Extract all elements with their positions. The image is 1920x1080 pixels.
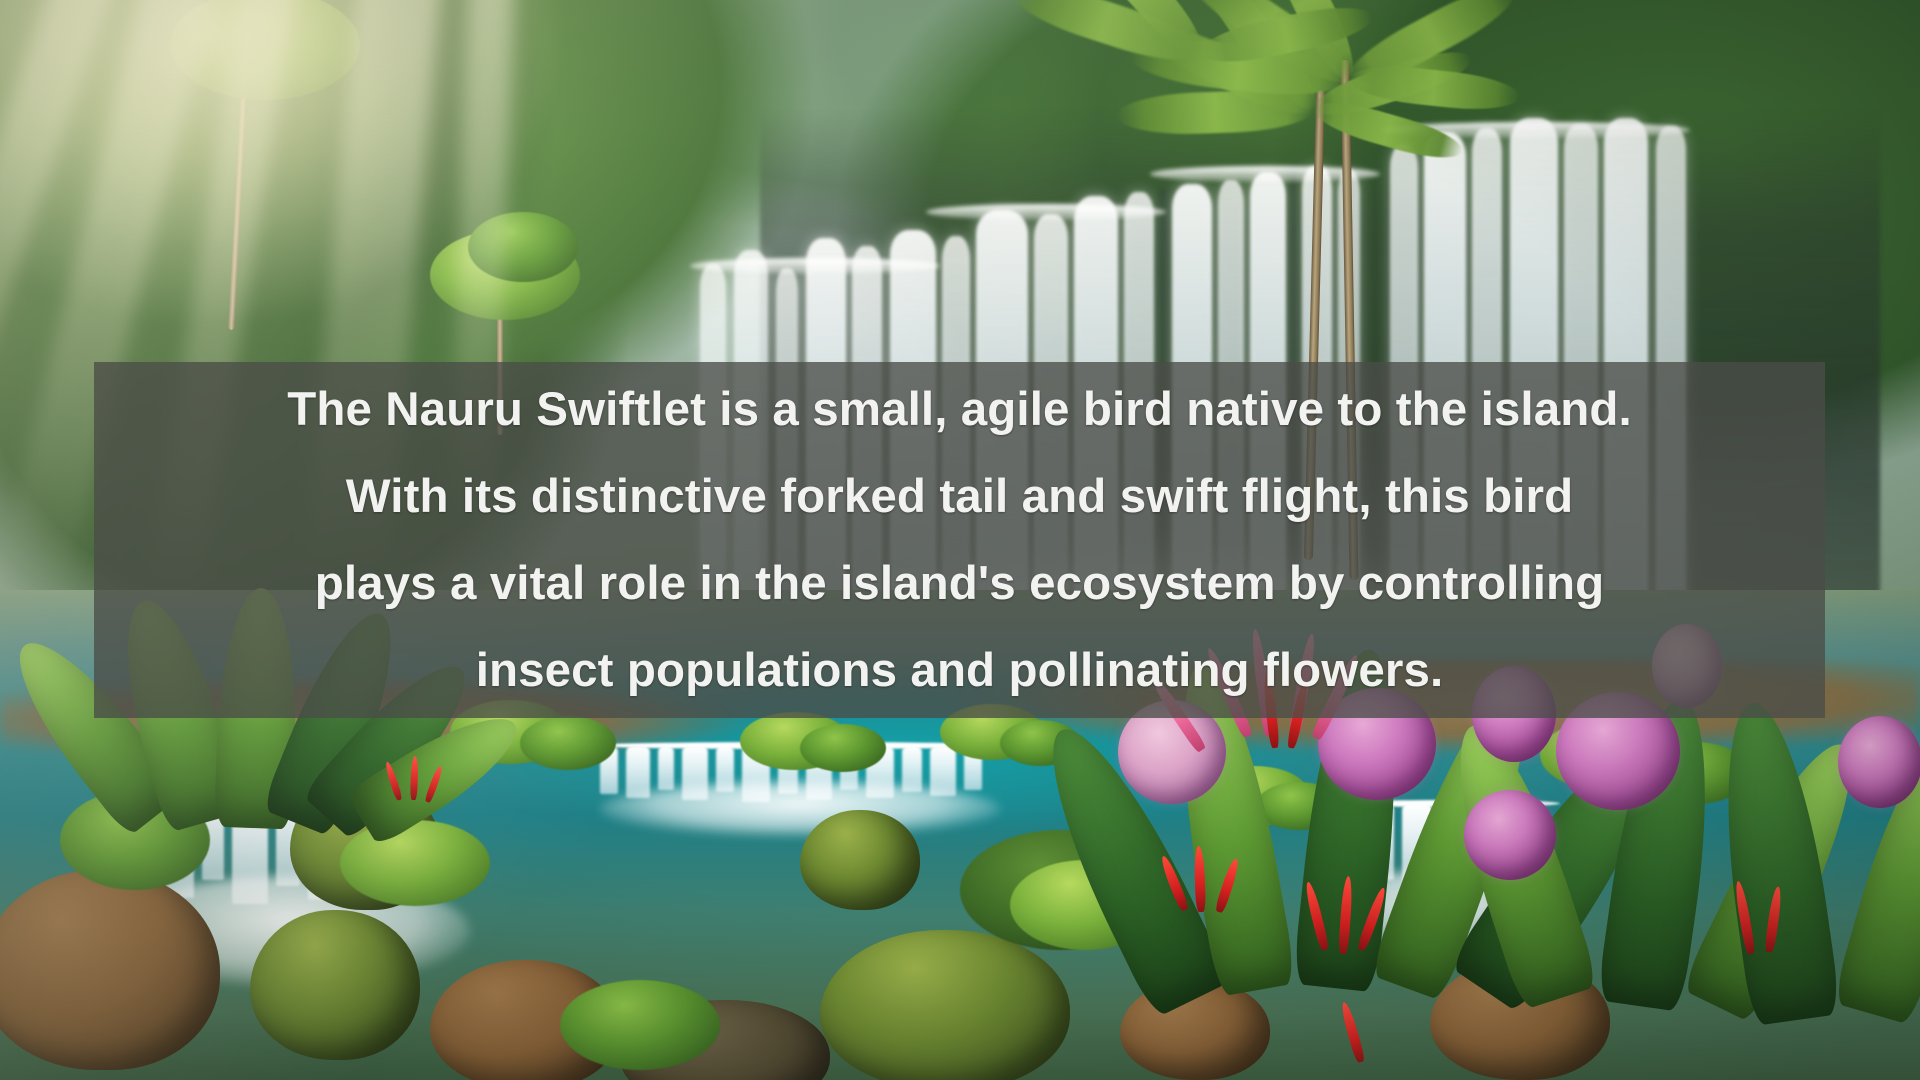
mossy-boulder	[800, 810, 920, 910]
caption-text: The Nauru Swiftlet is a small, agile bir…	[287, 366, 1632, 714]
illustration-scene: The Nauru Swiftlet is a small, agile bir…	[0, 0, 1920, 1080]
flower	[1464, 790, 1556, 880]
caption-overlay: The Nauru Swiftlet is a small, agile bir…	[94, 362, 1825, 718]
boulder	[0, 870, 220, 1070]
flower	[1838, 716, 1920, 808]
mossy-boulder	[820, 930, 1070, 1080]
mossy-boulder	[250, 910, 420, 1060]
